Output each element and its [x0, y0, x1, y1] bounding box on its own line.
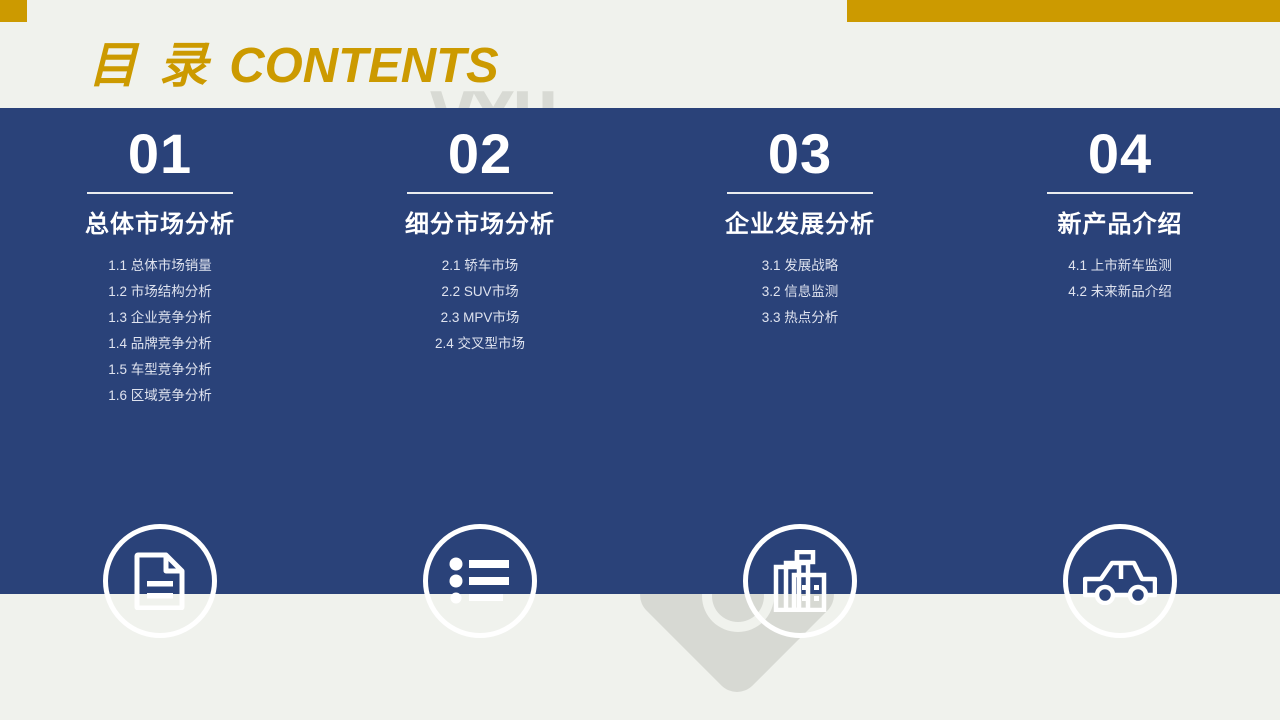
list-item[interactable]: 1.2 市场结构分析 — [108, 285, 212, 299]
section-item-list: 3.1 发展战略 3.2 信息监测 3.3 热点分析 — [762, 259, 839, 337]
section-01[interactable]: 01 总体市场分析 1.1 总体市场销量 1.2 市场结构分析 1.3 企业竞争… — [0, 108, 320, 594]
list-item[interactable]: 1.4 品牌竞争分析 — [108, 337, 212, 351]
list-item[interactable]: 3.2 信息监测 — [762, 285, 839, 299]
section-04-icon-circle[interactable] — [1063, 524, 1177, 638]
section-heading: 企业发展分析 — [725, 204, 875, 239]
section-item-list: 4.1 上市新车监测 4.2 未来新品介绍 — [1068, 259, 1172, 311]
section-item-list: 1.1 总体市场销量 1.2 市场结构分析 1.3 企业竞争分析 1.4 品牌竞… — [108, 259, 212, 415]
list-item[interactable]: 4.2 未来新品介绍 — [1068, 285, 1172, 299]
building-icon — [772, 550, 828, 612]
section-divider — [407, 192, 553, 194]
section-number: 04 — [1088, 126, 1152, 182]
page-title: 目 录 CONTENTS — [88, 26, 499, 97]
section-number: 01 — [128, 126, 192, 182]
page-title-en: CONTENTS — [229, 39, 499, 93]
top-accent-bar-left — [0, 0, 27, 22]
list-item[interactable]: 1.6 区域竞争分析 — [108, 389, 212, 403]
list-item[interactable]: 2.1 轿车市场 — [442, 259, 519, 273]
section-01-icon-circle[interactable] — [103, 524, 217, 638]
list-item[interactable]: 1.1 总体市场销量 — [108, 259, 212, 273]
section-04[interactable]: 04 新产品介绍 4.1 上市新车监测 4.2 未来新品介绍 — [960, 108, 1280, 594]
section-03[interactable]: 03 企业发展分析 3.1 发展战略 3.2 信息监测 3.3 热点分析 — [640, 108, 960, 594]
page-title-cn: 目 录 — [88, 39, 229, 93]
sections-row: 01 总体市场分析 1.1 总体市场销量 1.2 市场结构分析 1.3 企业竞争… — [0, 108, 1280, 594]
list-item[interactable]: 3.1 发展战略 — [762, 259, 839, 273]
section-number: 02 — [448, 126, 512, 182]
section-02-icon-circle[interactable] — [423, 524, 537, 638]
list-item[interactable]: 3.3 热点分析 — [762, 311, 839, 325]
section-divider — [87, 192, 233, 194]
list-item[interactable]: 2.4 交叉型市场 — [435, 337, 525, 351]
list-icon — [449, 556, 511, 606]
top-accent-bar-right — [847, 0, 1280, 22]
section-heading: 细分市场分析 — [405, 204, 555, 239]
contents-panel: 01 总体市场分析 1.1 总体市场销量 1.2 市场结构分析 1.3 企业竞争… — [0, 108, 1280, 594]
list-item[interactable]: 1.3 企业竞争分析 — [108, 311, 212, 325]
section-heading: 新产品介绍 — [1058, 204, 1183, 239]
section-divider — [1047, 192, 1193, 194]
contents-slide: VXU 目 录 CONTENTS 01 总体市场分析 1.1 总体市场销量 1.… — [0, 0, 1280, 720]
list-item[interactable]: 4.1 上市新车监测 — [1068, 259, 1172, 273]
section-item-list: 2.1 轿车市场 2.2 SUV市场 2.3 MPV市场 2.4 交叉型市场 — [435, 259, 525, 363]
list-item[interactable]: 2.2 SUV市场 — [441, 285, 518, 299]
section-divider — [727, 192, 873, 194]
section-03-icon-circle[interactable] — [743, 524, 857, 638]
car-icon — [1083, 557, 1157, 605]
list-item[interactable]: 2.3 MPV市场 — [441, 311, 520, 325]
document-icon — [134, 552, 186, 610]
section-02[interactable]: 02 细分市场分析 2.1 轿车市场 2.2 SUV市场 2.3 MPV市场 2… — [320, 108, 640, 594]
section-number: 03 — [768, 126, 832, 182]
list-item[interactable]: 1.5 车型竞争分析 — [108, 363, 212, 377]
section-heading: 总体市场分析 — [85, 204, 235, 239]
